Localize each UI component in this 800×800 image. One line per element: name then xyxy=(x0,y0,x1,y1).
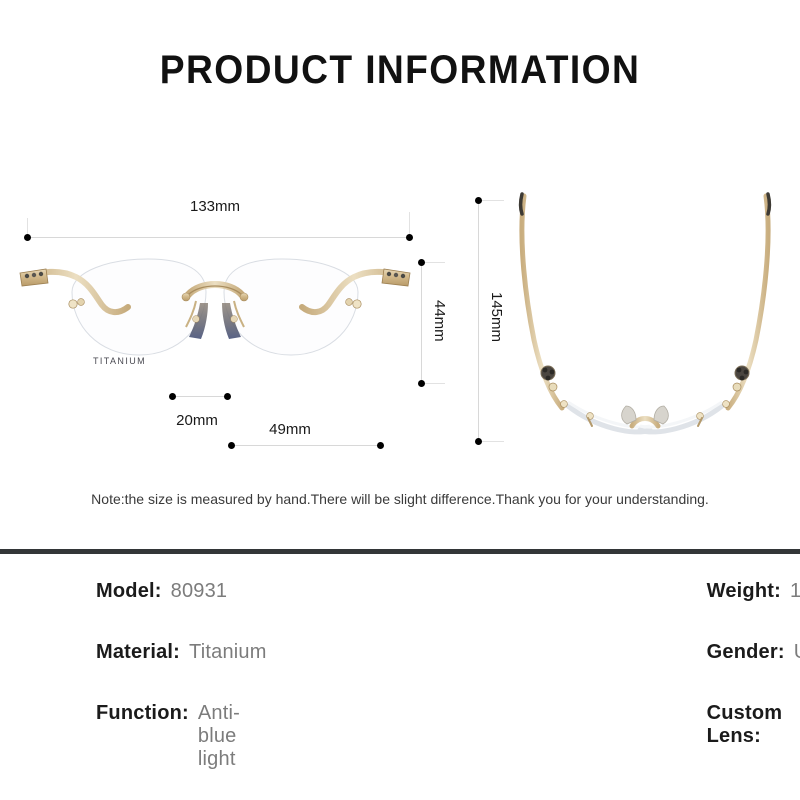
spec-label-custom-lens: Custom Lens: xyxy=(707,702,800,748)
dimension-endpoint-right xyxy=(406,234,413,241)
specification-table: Model: 80931 Weight: 14.7G Material: Tit… xyxy=(0,580,800,771)
dimension-endpoint-bridge-right xyxy=(224,393,231,400)
lens-titanium-marking: TITANIUM xyxy=(93,356,146,366)
dimension-endpoint-lens-right xyxy=(377,442,384,449)
page-title: PRODUCT INFORMATION xyxy=(28,48,772,93)
dimension-label-total-width: 133mm xyxy=(150,198,280,215)
spec-value-weight: 14.7G xyxy=(790,580,800,603)
dimension-endpoint-temple-top xyxy=(475,197,482,204)
dimension-endpoint-left xyxy=(24,234,31,241)
spec-value-material: Titanium xyxy=(189,641,267,664)
eyeglasses-top-view-image xyxy=(500,190,790,455)
dimension-label-bridge-width: 20mm xyxy=(163,412,231,429)
dimension-label-lens-width: 49mm xyxy=(256,421,324,438)
section-divider xyxy=(0,549,800,554)
spec-value-function: Anti-blue light xyxy=(198,702,267,771)
spec-value-model: 80931 xyxy=(171,580,228,603)
spec-label-material: Material: xyxy=(96,641,180,664)
eyeglasses-front-view-image xyxy=(10,245,420,390)
measurement-note: Note:the size is measured by hand.There … xyxy=(0,491,800,507)
spec-label-function: Function: xyxy=(96,702,189,725)
spec-label-gender: Gender: xyxy=(707,641,785,664)
dimension-line-total-width xyxy=(28,237,410,238)
dimension-line-temple-length xyxy=(478,200,479,442)
spec-row-custom-lens: Custom Lens: Yes xyxy=(267,702,800,771)
dimension-line-lens-width xyxy=(231,445,380,446)
spec-label-weight: Weight: xyxy=(707,580,781,603)
spec-row-material: Material: Titanium xyxy=(0,641,267,664)
spec-row-function: Function: Anti-blue light xyxy=(0,702,267,771)
dimension-diagram: 133mm 44mm 20mm 49mm xyxy=(0,170,800,470)
spec-label-model: Model: xyxy=(96,580,162,603)
dimension-line-lens-height xyxy=(421,262,422,384)
dimension-endpoint-bridge-left xyxy=(169,393,176,400)
dimension-line-bridge-width xyxy=(172,396,227,397)
dimension-label-lens-height: 44mm xyxy=(431,300,448,342)
spec-row-weight: Weight: 14.7G xyxy=(267,580,800,603)
product-information-page: PRODUCT INFORMATION 133mm 44mm 20mm 49mm xyxy=(0,0,800,800)
spec-value-gender: Unisex xyxy=(794,641,800,664)
dimension-endpoint-temple-bottom xyxy=(475,438,482,445)
spec-row-model: Model: 80931 xyxy=(0,580,267,603)
spec-row-gender: Gender: Unisex xyxy=(267,641,800,664)
dimension-endpoint-lens-left xyxy=(228,442,235,449)
